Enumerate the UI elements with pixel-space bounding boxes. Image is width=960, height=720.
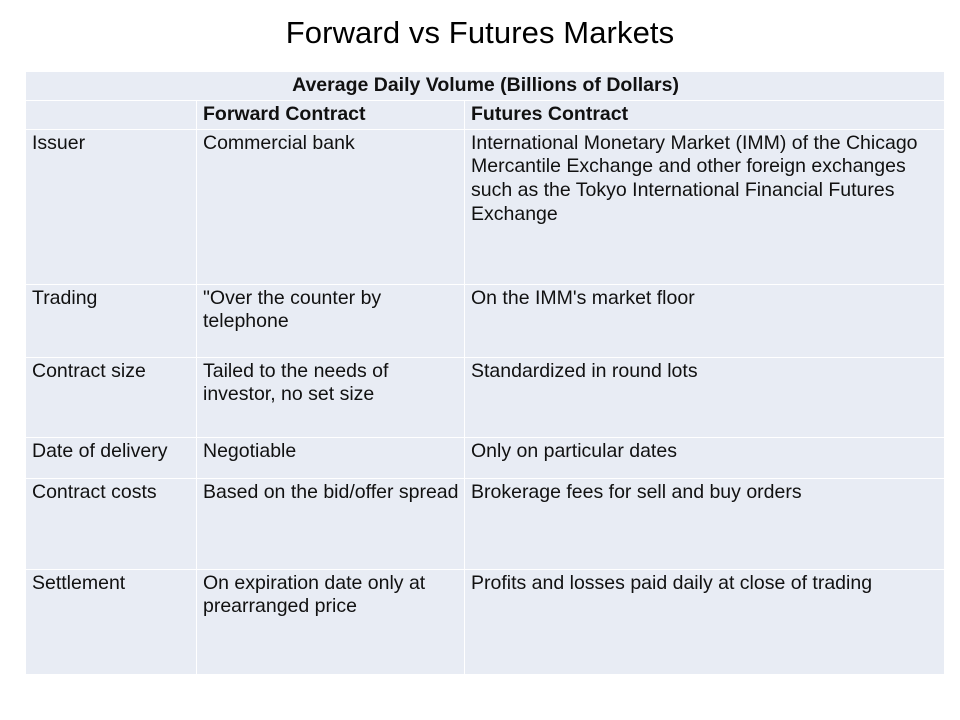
table-row: Settlement On expiration date only at pr… <box>26 569 945 674</box>
table-row: Contract size Tailed to the needs of inv… <box>26 357 945 437</box>
column-header-blank <box>26 100 197 129</box>
comparison-table: Average Daily Volume (Billions of Dollar… <box>25 71 945 675</box>
table-header-row: Forward Contract Futures Contract <box>26 100 945 129</box>
row-label-trading: Trading <box>26 284 197 357</box>
cell-contract-size-forward: Tailed to the needs of investor, no set … <box>197 357 465 437</box>
cell-trading-futures: On the IMM's market floor <box>465 284 945 357</box>
cell-issuer-forward: Commercial bank <box>197 129 465 284</box>
table-row: Trading "Over the counter by telephone O… <box>26 284 945 357</box>
table-row: Issuer Commercial bank International Mon… <box>26 129 945 284</box>
cell-date-of-delivery-futures: Only on particular dates <box>465 437 945 478</box>
page-title: Forward vs Futures Markets <box>0 16 960 50</box>
cell-issuer-futures: International Monetary Market (IMM) of t… <box>465 129 945 284</box>
cell-trading-forward: "Over the counter by telephone <box>197 284 465 357</box>
row-label-date-of-delivery: Date of delivery <box>26 437 197 478</box>
table-row: Contract costs Based on the bid/offer sp… <box>26 478 945 569</box>
cell-date-of-delivery-forward: Negotiable <box>197 437 465 478</box>
cell-contract-costs-futures: Brokerage fees for sell and buy orders <box>465 478 945 569</box>
row-label-contract-costs: Contract costs <box>26 478 197 569</box>
table-banner-row: Average Daily Volume (Billions of Dollar… <box>26 72 945 101</box>
row-label-contract-size: Contract size <box>26 357 197 437</box>
cell-contract-costs-forward: Based on the bid/offer spread <box>197 478 465 569</box>
row-label-issuer: Issuer <box>26 129 197 284</box>
slide-canvas: Forward vs Futures Markets Average Daily… <box>0 0 960 720</box>
comparison-table-container: Average Daily Volume (Billions of Dollar… <box>25 71 944 675</box>
table-row: Date of delivery Negotiable Only on part… <box>26 437 945 478</box>
table-banner-cell: Average Daily Volume (Billions of Dollar… <box>26 72 945 101</box>
column-header-forward-contract: Forward Contract <box>197 100 465 129</box>
row-label-settlement: Settlement <box>26 569 197 674</box>
cell-contract-size-futures: Standardized in round lots <box>465 357 945 437</box>
cell-settlement-futures: Profits and losses paid daily at close o… <box>465 569 945 674</box>
cell-settlement-forward: On expiration date only at prearranged p… <box>197 569 465 674</box>
column-header-futures-contract: Futures Contract <box>465 100 945 129</box>
